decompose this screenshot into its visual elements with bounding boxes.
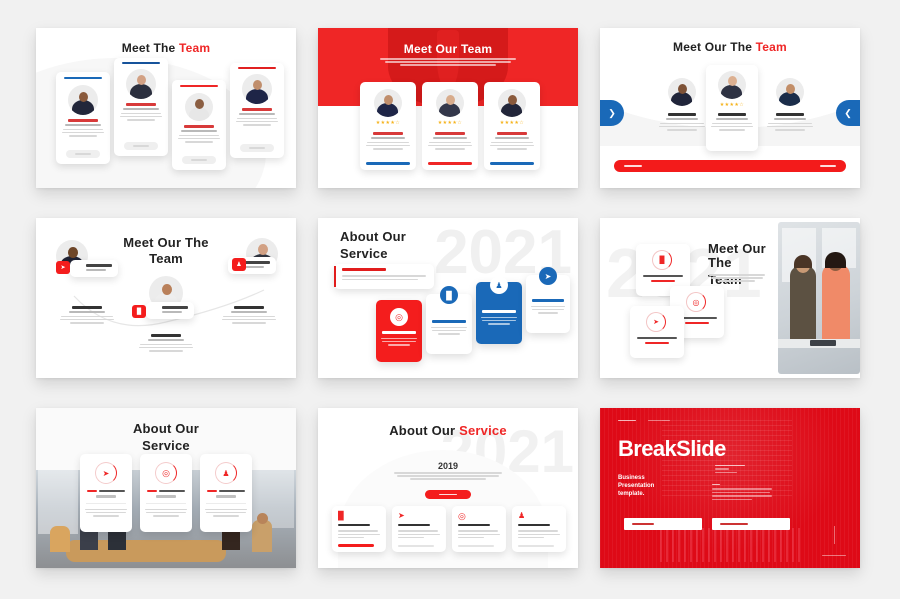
team-card[interactable]: ★★★★☆ <box>422 82 478 170</box>
label <box>159 490 185 492</box>
bar-chart-icon: █ <box>338 511 344 520</box>
info-card[interactable]: █ <box>332 506 386 552</box>
target-icon: ◎ <box>686 292 706 312</box>
target-icon: ◎ <box>390 308 408 326</box>
card-text <box>366 132 410 151</box>
card-text <box>490 132 534 151</box>
footer-left-label <box>624 165 642 167</box>
slide-meta <box>715 465 749 473</box>
team-card[interactable] <box>56 72 110 164</box>
avatar <box>242 74 272 104</box>
member-text <box>655 113 709 131</box>
team-card[interactable]: ★★★★☆ <box>360 82 416 170</box>
topbar-left-label <box>618 420 636 421</box>
carousel-next-button[interactable]: ❮ <box>836 100 860 126</box>
rocket-icon: ➤ <box>56 261 70 274</box>
crowd-texture <box>660 528 800 562</box>
label-accent <box>147 490 157 492</box>
card-button[interactable] <box>240 144 274 152</box>
avatar <box>776 78 804 106</box>
accent-rule <box>334 266 336 287</box>
card-underline <box>458 545 494 547</box>
bar-chart-icon: █ <box>440 286 458 304</box>
avatar <box>126 69 156 99</box>
slide-subtitle: Business Presentation template. <box>618 474 654 498</box>
service-card[interactable]: █ <box>426 294 472 354</box>
card-text <box>62 119 104 138</box>
chevron-left-icon: ❮ <box>844 108 852 119</box>
cta-button[interactable] <box>425 490 471 499</box>
team-member[interactable] <box>763 78 817 132</box>
avatar <box>185 93 213 121</box>
label <box>99 490 125 492</box>
card-accent-bar <box>180 85 218 87</box>
chevron-right-icon: ❯ <box>608 108 616 119</box>
rocket-icon: ➤ <box>646 312 666 332</box>
slide-topbar <box>618 420 670 421</box>
template-button[interactable] <box>624 518 702 530</box>
label-accent <box>87 490 97 492</box>
card-accent-bar <box>490 162 534 165</box>
member-description <box>56 306 118 325</box>
service-card[interactable]: ♟ <box>476 282 522 344</box>
title-subtext <box>380 58 516 68</box>
info-card[interactable]: ♟ <box>512 506 566 552</box>
card-text <box>120 103 162 122</box>
service-label <box>532 299 564 302</box>
rocket-icon: ➤ <box>539 267 557 285</box>
target-icon: ◎ <box>458 511 466 522</box>
slide-thumbnail-3[interactable]: Meet Our The Team ★★★★☆ <box>600 28 860 188</box>
card-underline <box>398 545 434 547</box>
avatar <box>718 71 746 99</box>
member-badge[interactable] <box>70 260 118 277</box>
rating-stars: ★★★★☆ <box>422 120 478 126</box>
label-sub <box>96 495 116 497</box>
member-description <box>135 334 197 353</box>
feature-label-accent <box>651 280 675 282</box>
service-card[interactable]: ♟ <box>200 454 252 532</box>
card-button[interactable] <box>182 156 216 164</box>
feature-label-accent <box>685 322 709 324</box>
card-label <box>458 524 490 526</box>
card-accent-bar <box>64 77 102 79</box>
info-card[interactable]: ◎ <box>452 506 506 552</box>
service-card[interactable]: ◎ <box>376 300 422 362</box>
feature-label <box>643 275 683 277</box>
label-sub <box>216 495 236 497</box>
page-title: Meet Our The Team <box>600 40 860 54</box>
member-badge[interactable] <box>146 302 194 319</box>
footer-rule <box>834 526 835 544</box>
page-title: Meet Our Team <box>318 42 578 56</box>
member-description <box>218 306 280 325</box>
card-text <box>428 132 472 151</box>
people-icon: ♟ <box>215 462 237 484</box>
page-title: About Our Service <box>318 424 578 438</box>
slide-body-text <box>712 484 774 500</box>
team-card[interactable] <box>114 58 168 156</box>
card-underline <box>518 545 554 547</box>
feature-card[interactable]: ➤ <box>630 306 684 358</box>
avatar <box>498 89 526 117</box>
card-button[interactable] <box>66 150 100 158</box>
page-title: About Our Service <box>36 422 296 453</box>
team-card[interactable]: ★★★★☆ <box>484 82 540 170</box>
label-accent <box>207 490 217 492</box>
footer-right-label <box>820 165 836 167</box>
slide-footer <box>822 555 846 556</box>
group-icon: ♟ <box>232 258 246 271</box>
slide-thumbnail-7[interactable]: About Our Service ➤ ◎ <box>36 408 296 568</box>
slide-thumbnail-8[interactable]: 2021 About Our Service 2019 █ <box>318 408 578 568</box>
footer-bar[interactable] <box>614 160 846 172</box>
target-icon: ◎ <box>155 462 177 484</box>
label-sub <box>156 495 176 497</box>
service-card[interactable]: ➤ <box>80 454 132 532</box>
slide-thumbnail-1[interactable]: Meet The Team <box>36 28 296 188</box>
template-button-label <box>632 523 654 525</box>
slide-thumbnail-5[interactable]: 2021 About Our Service ◎ <box>318 218 578 378</box>
card-text <box>236 108 278 127</box>
avatar <box>668 78 696 106</box>
premium-design-button[interactable] <box>712 518 790 530</box>
feature-label-accent <box>645 342 669 344</box>
people-icon: ♟ <box>490 276 508 294</box>
avatar <box>68 85 98 115</box>
service-label <box>382 331 416 334</box>
service-label <box>432 320 466 323</box>
service-label <box>482 310 516 313</box>
card-button[interactable] <box>124 142 158 150</box>
card-label <box>338 524 370 526</box>
team-photo <box>778 222 860 374</box>
avatar <box>374 89 402 117</box>
service-card[interactable]: ➤ <box>526 275 570 333</box>
people-icon: ♟ <box>518 511 525 520</box>
team-card[interactable] <box>230 63 284 158</box>
slide-thumbnail-9[interactable]: BreakSlide Business Presentation templat… <box>600 408 860 568</box>
card-underline <box>338 544 374 547</box>
year-description <box>394 472 502 482</box>
slide-title: BreakSlide <box>618 436 726 462</box>
about-heading <box>342 268 386 271</box>
team-card[interactable] <box>172 80 226 170</box>
label <box>219 490 245 492</box>
page-title: About Our Service <box>340 230 406 261</box>
team-card-featured[interactable]: ★★★★☆ <box>706 65 758 151</box>
slide-thumbnail-4[interactable]: Meet Our The Team ➤ ♟ <box>36 218 296 378</box>
premium-design-button-label <box>720 523 748 525</box>
slide-thumbnail-grid: Meet The Team <box>0 0 900 599</box>
card-accent-bar <box>238 67 276 69</box>
page-title: Meet The Team <box>36 41 296 55</box>
avatar <box>436 89 464 117</box>
card-accent-bar <box>366 162 410 165</box>
chart-icon: █ <box>132 305 146 318</box>
rating-stars: ★★★★☆ <box>360 120 416 126</box>
about-box <box>334 264 434 289</box>
info-card[interactable]: ➤ <box>392 506 446 552</box>
slide-thumbnail-6[interactable]: 2021 Meet Our The Team <box>600 218 860 378</box>
rocket-icon: ➤ <box>398 511 405 520</box>
service-card[interactable]: ◎ <box>140 454 192 532</box>
member-text <box>763 113 817 131</box>
team-member[interactable] <box>655 78 709 132</box>
slide-thumbnail-2[interactable]: Meet Our Team ★★★★☆ <box>318 28 578 188</box>
rating-stars: ★★★★☆ <box>484 120 540 126</box>
feature-label <box>637 337 677 339</box>
card-accent-bar <box>122 62 160 64</box>
title-subtext <box>708 274 766 284</box>
page-title: Meet Our The Team <box>114 236 218 266</box>
card-text <box>711 113 753 132</box>
chart-icon: █ <box>652 250 672 270</box>
card-text <box>178 125 220 144</box>
card-label <box>518 524 550 526</box>
card-label <box>398 524 430 526</box>
topbar-right-label <box>648 420 670 421</box>
card-accent-bar <box>428 162 472 165</box>
rating-stars: ★★★★☆ <box>706 102 758 108</box>
rocket-icon: ➤ <box>95 462 117 484</box>
